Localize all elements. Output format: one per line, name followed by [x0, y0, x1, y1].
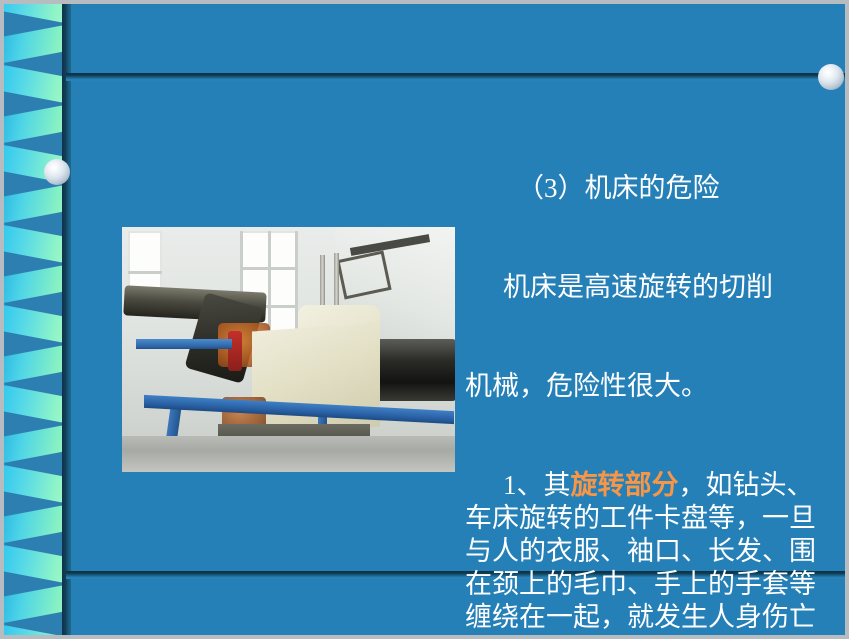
para2: 1、其旋转部分，如钻头、车床旋转的工件卡盘等，一旦与人的衣服、袖口、长发、围在颈… [465, 469, 831, 639]
machine-photo [122, 227, 455, 472]
ribbon-zigzag-segment [4, 304, 64, 384]
para1-line1: 机床是高速旋转的切削 [465, 271, 831, 304]
slide: （3）机床的危险 机床是高速旋转的切削 机械，危险性很大。 1、其旋转部分，如钻… [0, 0, 849, 639]
para2-prefix: 1、其 [503, 470, 571, 500]
slide-body-text: （3）机床的危险 机床是高速旋转的切削 机械，危险性很大。 1、其旋转部分，如钻… [465, 106, 831, 639]
para1-line2: 机械，危险性很大。 [465, 370, 831, 403]
heading-line: （3）机床的危险 [465, 172, 831, 205]
horizontal-divider-top [66, 73, 849, 81]
ribbon-zigzag-segment [4, 64, 64, 144]
ribbon-zigzag-segment [4, 464, 64, 544]
para2-highlight: 旋转部分 [571, 470, 679, 500]
vertical-divider-dark [62, 4, 71, 635]
sphere-bullet-left [44, 159, 70, 185]
ribbon-zigzag-segment [4, 224, 64, 304]
ribbon-zigzag-segment [4, 384, 64, 464]
vertical-divider-light [71, 4, 75, 635]
sphere-bullet-right [818, 64, 844, 90]
left-ribbon-decoration [4, 4, 64, 635]
ribbon-zigzag-segment [4, 544, 64, 624]
ribbon-zigzag-segment [4, 4, 64, 64]
ribbon-zigzag-segment [4, 624, 64, 635]
